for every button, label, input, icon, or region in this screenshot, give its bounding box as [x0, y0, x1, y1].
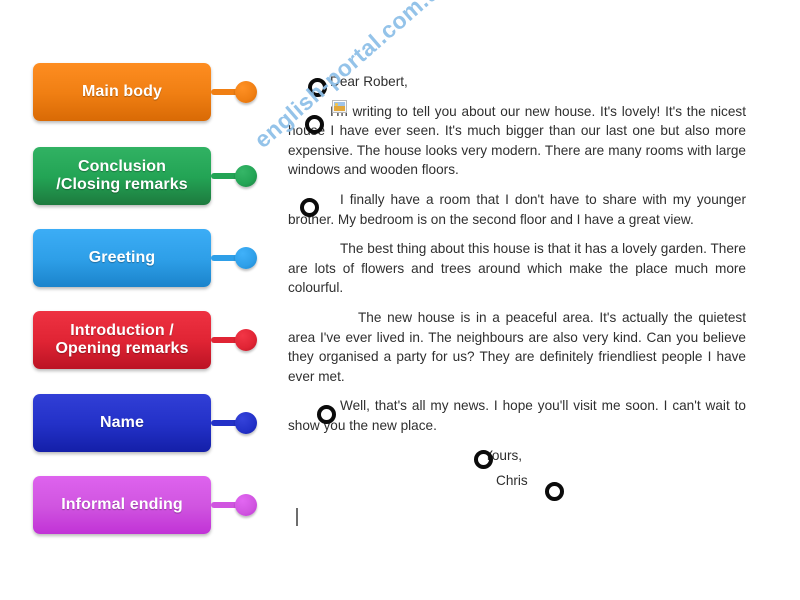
- label-row-greeting[interactable]: Greeting: [33, 229, 259, 287]
- draggable-label-greeting[interactable]: Greeting: [33, 229, 211, 287]
- connector-greeting: [211, 229, 259, 287]
- label-row-main-body[interactable]: Main body: [33, 63, 259, 121]
- label-text-introduction: Introduction / Opening remarks: [55, 322, 188, 358]
- draggable-label-introduction[interactable]: Introduction / Opening remarks: [33, 311, 211, 369]
- paragraph-body-p1: I'm writing to tell you about our new ho…: [288, 102, 746, 180]
- paragraph-body-p3: The best thing about this house is that …: [288, 239, 746, 298]
- paragraph-conclusion-p: Well, that's all my news. I hope you'll …: [288, 396, 746, 435]
- connector-main-body: [211, 63, 259, 121]
- connector-name: [211, 394, 259, 452]
- signature-line: Chris: [288, 471, 746, 491]
- connector-dot-main-body[interactable]: [235, 81, 257, 103]
- drop-conclusion[interactable]: [317, 405, 336, 424]
- draggable-label-informal-ending[interactable]: Informal ending: [33, 476, 211, 534]
- drop-body-2[interactable]: [300, 198, 319, 217]
- draggable-label-name[interactable]: Name: [33, 394, 211, 452]
- signoff-line: Yours,: [288, 446, 746, 466]
- label-row-conclusion[interactable]: Conclusion /Closing remarks: [33, 147, 259, 205]
- drop-name[interactable]: [545, 482, 564, 501]
- activity-canvas: Main bodyConclusion /Closing remarksGree…: [0, 0, 800, 600]
- connector-dot-introduction[interactable]: [235, 329, 257, 351]
- draggable-label-main-body[interactable]: Main body: [33, 63, 211, 121]
- label-text-name: Name: [100, 414, 144, 432]
- draggable-label-conclusion[interactable]: Conclusion /Closing remarks: [33, 147, 211, 205]
- label-row-name[interactable]: Name: [33, 394, 259, 452]
- labels-panel: Main bodyConclusion /Closing remarksGree…: [0, 0, 270, 600]
- label-text-greeting: Greeting: [89, 249, 156, 267]
- drop-greeting[interactable]: [308, 78, 327, 97]
- label-text-informal-ending: Informal ending: [61, 496, 183, 514]
- connector-dot-informal-ending[interactable]: [235, 494, 257, 516]
- paragraph-body-p4: The new house is in a peaceful area. It'…: [288, 308, 746, 386]
- connector-dot-greeting[interactable]: [235, 247, 257, 269]
- label-row-informal-ending[interactable]: Informal ending: [33, 476, 259, 534]
- picture-placeholder-icon: [332, 100, 347, 113]
- paragraph-body-p2: I finally have a room that I don't have …: [288, 190, 746, 229]
- letter-text-panel: Dear Robert,I'm writing to tell you abou…: [288, 72, 746, 497]
- connector-informal-ending: [211, 476, 259, 534]
- drop-main-body[interactable]: [305, 115, 324, 134]
- label-text-main-body: Main body: [82, 83, 162, 101]
- connector-conclusion: [211, 147, 259, 205]
- connector-dot-name[interactable]: [235, 412, 257, 434]
- drop-informal[interactable]: [474, 450, 493, 469]
- connector-dot-conclusion[interactable]: [235, 165, 257, 187]
- paragraph-greeting-line: Dear Robert,: [288, 72, 746, 92]
- text-caret: [296, 508, 298, 526]
- label-text-conclusion: Conclusion /Closing remarks: [56, 158, 187, 194]
- connector-introduction: [211, 311, 259, 369]
- label-row-introduction[interactable]: Introduction / Opening remarks: [33, 311, 259, 369]
